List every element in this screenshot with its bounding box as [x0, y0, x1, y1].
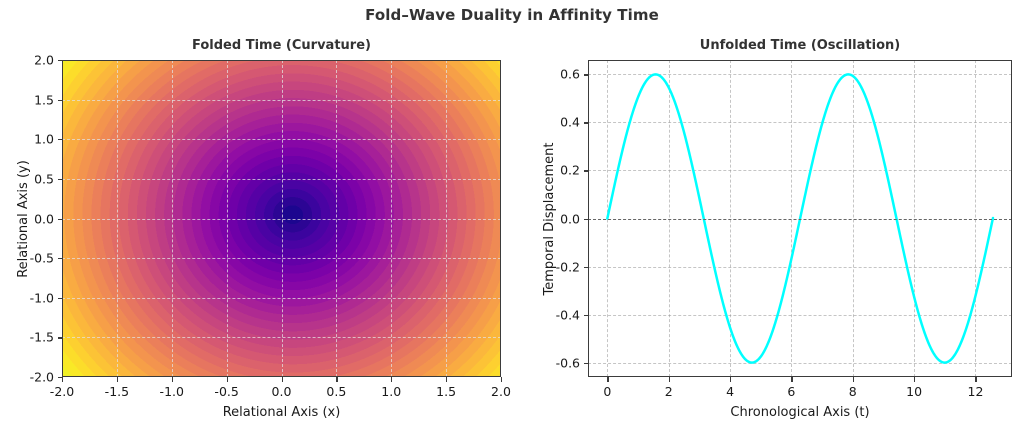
left-xtick-label: -2.0 [50, 384, 74, 399]
right-axis-spine-bottom [588, 376, 1012, 377]
left-xtick-label: 1.0 [381, 384, 401, 399]
left-gridline-h [62, 298, 501, 299]
left-ytick-label: 1.5 [34, 92, 54, 107]
left-xtick [391, 377, 392, 382]
left-ytick [58, 179, 63, 180]
left-xtick-label: 0.0 [272, 384, 292, 399]
wave-plot-area [588, 60, 1012, 377]
right-xtick [607, 377, 608, 382]
right-xtick [730, 377, 731, 382]
right-axis-spine-left [588, 60, 589, 377]
left-ytick [58, 298, 63, 299]
right-xtick-label: 0 [603, 384, 611, 399]
left-xtick-label: 0.5 [326, 384, 346, 399]
left-ytick-label: 0.5 [34, 171, 54, 186]
left-xtick [282, 377, 283, 382]
left-ytick [58, 100, 63, 101]
left-ytick-label: -1.0 [30, 290, 54, 305]
left-axis-spine-left [62, 60, 63, 377]
left-ylabel: Relational Axis (y) [16, 160, 31, 278]
right-xtick [791, 377, 792, 382]
right-ytick-label: 0.0 [560, 211, 580, 226]
right-axis-spine-right [1011, 60, 1012, 377]
left-ytick-label: 1.0 [34, 132, 54, 147]
left-ytick-label: -2.0 [30, 370, 54, 385]
right-ytick [584, 315, 589, 316]
right-xlabel: Chronological Axis (t) [588, 405, 1012, 420]
left-ytick-label: -0.5 [30, 251, 54, 266]
right-axis-spine-top [588, 60, 1012, 61]
right-ytick [584, 122, 589, 123]
left-gridline-h [62, 100, 501, 101]
right-xtick-label: 4 [726, 384, 734, 399]
left-xtick [62, 377, 63, 382]
zero-reference-line [588, 219, 1012, 220]
panel-left-title: Folded Time (Curvature) [62, 38, 501, 53]
right-ytick-label: 0.2 [560, 163, 580, 178]
left-xtick [117, 377, 118, 382]
left-axis-spine-right [500, 60, 501, 377]
right-xtick-label: 12 [968, 384, 984, 399]
right-ylabel: Temporal Displacement [542, 142, 557, 295]
left-ytick-label: -1.5 [30, 330, 54, 345]
right-ytick [584, 363, 589, 364]
left-xtick [501, 377, 502, 382]
right-ytick-label: -0.4 [556, 307, 580, 322]
right-xtick-label: 6 [787, 384, 795, 399]
left-ytick-label: 2.0 [34, 53, 54, 68]
left-xtick-label: -0.5 [214, 384, 238, 399]
left-ytick [58, 139, 63, 140]
left-gridline-h [62, 179, 501, 180]
right-xtick-label: 8 [849, 384, 857, 399]
left-xtick [227, 377, 228, 382]
left-ytick [58, 219, 63, 220]
left-xtick [446, 377, 447, 382]
left-xtick-label: -1.5 [105, 384, 129, 399]
left-gridline-h [62, 337, 501, 338]
panel-folded-time: Folded Time (Curvature) -2.0-1.5-1.0-0.5… [62, 60, 501, 377]
panel-unfolded-time: Unfolded Time (Oscillation) 024681012-0.… [588, 60, 1012, 377]
left-xtick-label: 1.5 [436, 384, 456, 399]
left-ytick [58, 60, 63, 61]
left-xtick-label: 2.0 [491, 384, 511, 399]
right-xtick [669, 377, 670, 382]
panel-right-title: Unfolded Time (Oscillation) [588, 38, 1012, 53]
right-ytick [584, 74, 589, 75]
left-ytick [58, 337, 63, 338]
right-xtick [914, 377, 915, 382]
right-ytick [584, 219, 589, 220]
right-ytick [584, 170, 589, 171]
figure-title: Fold–Wave Duality in Affinity Time [0, 6, 1024, 24]
right-xtick [853, 377, 854, 382]
right-xtick-label: 2 [665, 384, 673, 399]
left-axis-spine-top [62, 60, 501, 61]
left-xtick-label: -1.0 [160, 384, 184, 399]
left-ytick [58, 258, 63, 259]
contour-plot-area [62, 60, 501, 377]
right-ytick-label: 0.4 [560, 115, 580, 130]
left-gridline-h [62, 139, 501, 140]
left-gridline-h [62, 219, 501, 220]
left-ytick [58, 377, 63, 378]
right-ytick-label: -0.6 [556, 355, 580, 370]
left-xlabel: Relational Axis (x) [62, 405, 501, 420]
right-ytick-label: 0.6 [560, 67, 580, 82]
right-ytick [584, 267, 589, 268]
left-xtick [172, 377, 173, 382]
right-xtick [975, 377, 976, 382]
right-ytick-label: -0.2 [556, 259, 580, 274]
left-ytick-label: 0.0 [34, 211, 54, 226]
right-xtick-label: 10 [906, 384, 922, 399]
left-gridline-h [62, 258, 501, 259]
left-xtick [336, 377, 337, 382]
